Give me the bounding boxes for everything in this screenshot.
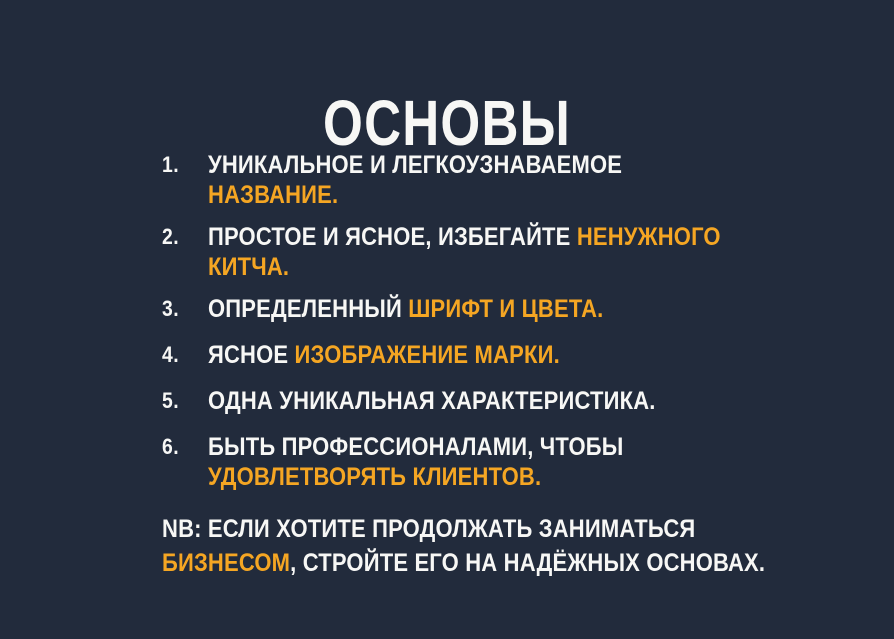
list-item: 4.ЯСНОЕ ИЗОБРАЖЕНИЕ МАРКИ. xyxy=(0,340,894,374)
list-item-number: 3. xyxy=(162,294,195,324)
slide-root: ОСНОВЫ 1.УНИКАЛЬНОЕ И ЛЕГКОУЗНАВАЕМОЕ НА… xyxy=(0,0,894,639)
highlighted-text: ИЗОБРАЖЕНИЕ МАРКИ. xyxy=(295,341,560,369)
plain-text: ОПРЕДЕЛЕННЫЙ xyxy=(208,295,408,323)
plain-text: УНИКАЛЬНОЕ И ЛЕГКОУЗНАВАЕМОЕ xyxy=(208,151,622,179)
list-item-text: ОДНА УНИКАЛЬНАЯ ХАРАКТЕРИСТИКА. xyxy=(208,386,736,416)
list-item: 5.ОДНА УНИКАЛЬНАЯ ХАРАКТЕРИСТИКА. xyxy=(0,386,894,420)
highlighted-text: НАЗВАНИЕ. xyxy=(208,181,338,209)
plain-text: ОДНА УНИКАЛЬНАЯ ХАРАКТЕРИСТИКА. xyxy=(208,387,656,415)
list-item: 6.БЫТЬ ПРОФЕССИОНАЛАМИ, ЧТОБЫ УДОВЛЕТВОР… xyxy=(0,432,894,492)
highlighted-text: УДОВЛЕТВОРЯТЬ КЛИЕНТОВ. xyxy=(208,463,541,491)
list-item: 2.ПРОСТОЕ И ЯСНОЕ, ИЗБЕГАЙТЕ НЕНУЖНОГО К… xyxy=(0,222,894,282)
principles-list: 1.УНИКАЛЬНОЕ И ЛЕГКОУЗНАВАЕМОЕ НАЗВАНИЕ.… xyxy=(0,150,894,492)
nb-note-line: БИЗНЕСОМ, СТРОЙТЕ ЕГО НА НАДЁЖНЫХ ОСНОВА… xyxy=(162,546,778,580)
list-item-text: БЫТЬ ПРОФЕССИОНАЛАМИ, ЧТОБЫ УДОВЛЕТВОРЯТ… xyxy=(208,432,736,492)
plain-text: , СТРОЙТЕ ЕГО НА НАДЁЖНЫХ ОСНОВАХ. xyxy=(290,549,765,577)
list-item-text: ПРОСТОЕ И ЯСНОЕ, ИЗБЕГАЙТЕ НЕНУЖНОГО КИТ… xyxy=(208,222,736,282)
plain-text: БЫТЬ ПРОФЕССИОНАЛАМИ, ЧТОБЫ xyxy=(208,433,623,461)
list-item: 1.УНИКАЛЬНОЕ И ЛЕГКОУЗНАВАЕМОЕ НАЗВАНИЕ. xyxy=(0,150,894,210)
nb-note-line: NB: ЕСЛИ ХОТИТЕ ПРОДОЛЖАТЬ ЗАНИМАТЬСЯ xyxy=(162,512,778,546)
list-item-number: 5. xyxy=(162,386,195,416)
list-item-text: УНИКАЛЬНОЕ И ЛЕГКОУЗНАВАЕМОЕ НАЗВАНИЕ. xyxy=(208,150,736,210)
plain-text: NB: ЕСЛИ ХОТИТЕ ПРОДОЛЖАТЬ ЗАНИМАТЬСЯ xyxy=(162,515,695,543)
list-item-text: ОПРЕДЕЛЕННЫЙ ШРИФТ И ЦВЕТА. xyxy=(208,294,736,324)
list-item-number: 4. xyxy=(162,340,195,370)
list-item-number: 6. xyxy=(162,432,195,462)
highlighted-text: ШРИФТ И ЦВЕТА. xyxy=(408,295,603,323)
list-item: 3.ОПРЕДЕЛЕННЫЙ ШРИФТ И ЦВЕТА. xyxy=(0,294,894,328)
nb-note: NB: ЕСЛИ ХОТИТЕ ПРОДОЛЖАТЬ ЗАНИМАТЬСЯБИЗ… xyxy=(162,512,778,580)
plain-text: ЯСНОЕ xyxy=(208,341,295,369)
list-item-number: 1. xyxy=(162,150,195,180)
plain-text: ПРОСТОЕ И ЯСНОЕ, ИЗБЕГАЙТЕ xyxy=(208,223,577,251)
page-title: ОСНОВЫ xyxy=(89,91,804,155)
highlighted-text: БИЗНЕСОМ xyxy=(162,549,290,577)
list-item-text: ЯСНОЕ ИЗОБРАЖЕНИЕ МАРКИ. xyxy=(208,340,736,370)
list-item-number: 2. xyxy=(162,222,195,252)
